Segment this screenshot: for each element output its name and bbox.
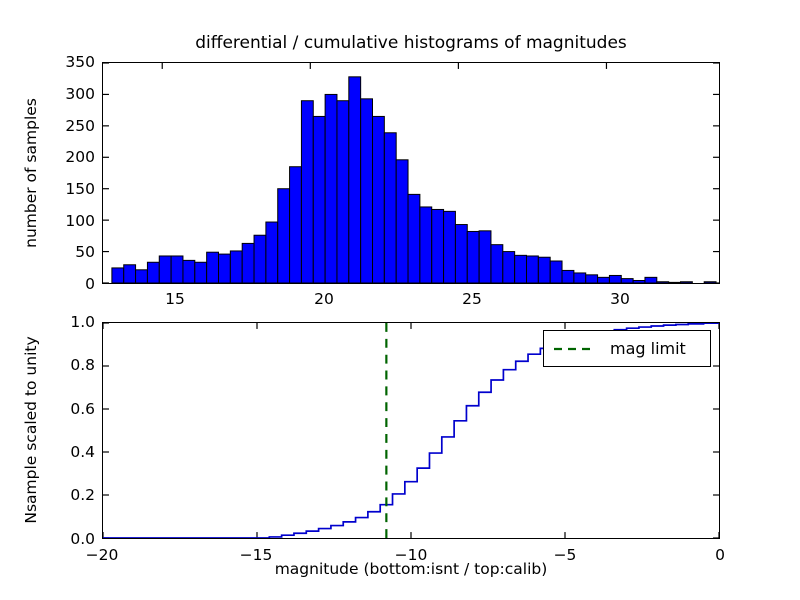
- xtick-top-20: 20: [314, 290, 334, 308]
- xtick-top-15: 15: [165, 290, 185, 308]
- mag-limit-line-icon: [553, 343, 593, 355]
- ytick-bottom-0_4: 0.4: [40, 443, 95, 461]
- y-axis-label-top: number of samples: [22, 63, 40, 283]
- ytick-bottom-0_2: 0.2: [40, 486, 95, 504]
- ytick-bottom-0_6: 0.6: [40, 400, 95, 418]
- ytick-bottom-0_8: 0.8: [40, 356, 95, 374]
- legend[interactable]: mag limit: [543, 330, 711, 367]
- ytick-top-50: 50: [40, 243, 95, 261]
- xtick-top-30: 30: [610, 290, 630, 308]
- ytick-top-350: 350: [40, 53, 95, 71]
- figure-canvas: differential / cumulative histograms of …: [0, 0, 800, 600]
- ytick-top-150: 150: [40, 180, 95, 198]
- page-title: differential / cumulative histograms of …: [102, 33, 720, 53]
- differential-histogram-axes: [102, 62, 720, 284]
- ytick-top-0: 0: [40, 275, 95, 293]
- ytick-top-250: 250: [40, 117, 95, 135]
- differential-histogram-plot: [103, 63, 719, 283]
- ytick-top-200: 200: [40, 148, 95, 166]
- ytick-top-100: 100: [40, 212, 95, 230]
- xtick-top-25: 25: [462, 290, 482, 308]
- x-axis-label-bottom: magnitude (bottom:isnt / top:calib): [102, 560, 720, 578]
- legend-label-mag-limit: mag limit: [610, 339, 686, 358]
- ytick-bottom-1_0: 1.0: [40, 313, 95, 331]
- y-axis-label-bottom: Nsample scaled to unity: [22, 300, 40, 560]
- ytick-top-300: 300: [40, 85, 95, 103]
